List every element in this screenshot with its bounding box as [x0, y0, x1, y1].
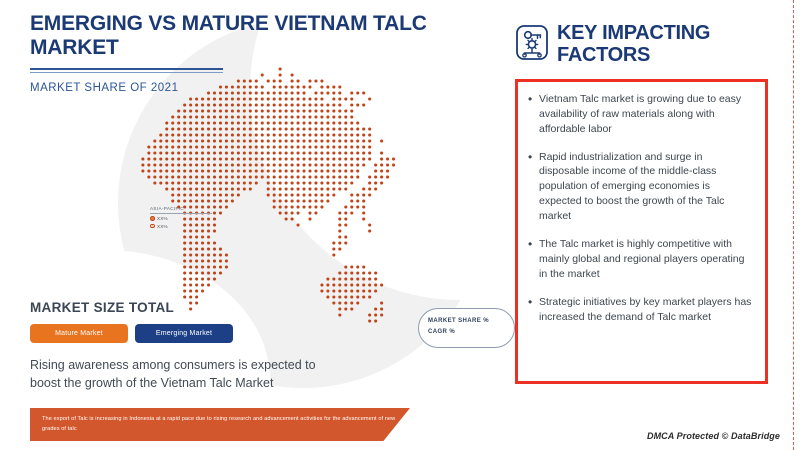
legend-button-emerging-market[interactable]: Emerging Market — [135, 324, 233, 343]
legend-item: XX% — [150, 224, 212, 229]
legend-swatch-solid-icon — [150, 216, 155, 221]
right-edge-dashed-rule — [793, 0, 794, 450]
page-subtitle: MARKET SHARE OF 2021 — [30, 82, 430, 94]
title-divider-thick — [30, 68, 223, 70]
infographic-canvas: EMERGING VS MATURE VIETNAM TALC MARKET M… — [0, 0, 800, 450]
market-size-total-title: MARKET SIZE TOTAL — [30, 300, 330, 315]
bottom-ribbon-banner: The export of Talc is increasing in Indo… — [30, 408, 410, 441]
key-impacting-factors-list: Vietnam Talc market is growing due to ea… — [526, 92, 755, 325]
market-share-label: MARKET SHARE % — [428, 316, 514, 327]
market-size-total-block: MARKET SIZE TOTAL Mature Market Emerging… — [30, 300, 330, 392]
page-title: EMERGING VS MATURE VIETNAM TALC MARKET — [30, 12, 430, 61]
legend-item: XX% — [150, 216, 212, 221]
key-impacting-factors-title: KEY IMPACTING FACTORS — [557, 22, 773, 67]
legend-swatch-hatch-icon — [150, 224, 155, 229]
list-item: Vietnam Talc market is growing due to ea… — [526, 92, 755, 137]
market-legend-buttons: Mature Market Emerging Market — [30, 324, 330, 343]
legend-region-label: ASIA-PACIFIC — [150, 206, 212, 214]
legend-value: XX% — [157, 224, 168, 229]
asia-pacific-legend: ASIA-PACIFIC XX% XX% — [150, 206, 212, 229]
header: EMERGING VS MATURE VIETNAM TALC MARKET M… — [30, 12, 430, 94]
key-impacting-factors-header: KEY IMPACTING FACTORS — [515, 22, 773, 67]
title-divider-thin — [30, 72, 223, 73]
list-item: Strategic initiatives by key market play… — [526, 295, 755, 325]
list-item: The Talc market is highly competitive wi… — [526, 237, 755, 282]
key-network-icon — [515, 24, 549, 61]
market-size-note: Rising awareness among consumers is expe… — [30, 356, 320, 392]
cagr-label: CAGR % — [428, 327, 514, 338]
key-impacting-factors-box: Vietnam Talc market is growing due to ea… — [515, 79, 768, 384]
bottom-ribbon-text: The export of Talc is increasing in Indo… — [42, 414, 400, 435]
legend-value: XX% — [157, 216, 168, 221]
list-item: Rapid industrialization and surge in dis… — [526, 150, 755, 225]
legend-button-mature-market[interactable]: Mature Market — [30, 324, 128, 343]
copyright-footer: DMCA Protected © DataBridge — [647, 431, 780, 441]
market-share-cagr-badge: MARKET SHARE % CAGR % — [418, 308, 515, 348]
key-impacting-factors-panel: KEY IMPACTING FACTORS Vietnam Talc marke… — [515, 22, 773, 384]
title-divider — [30, 68, 223, 73]
